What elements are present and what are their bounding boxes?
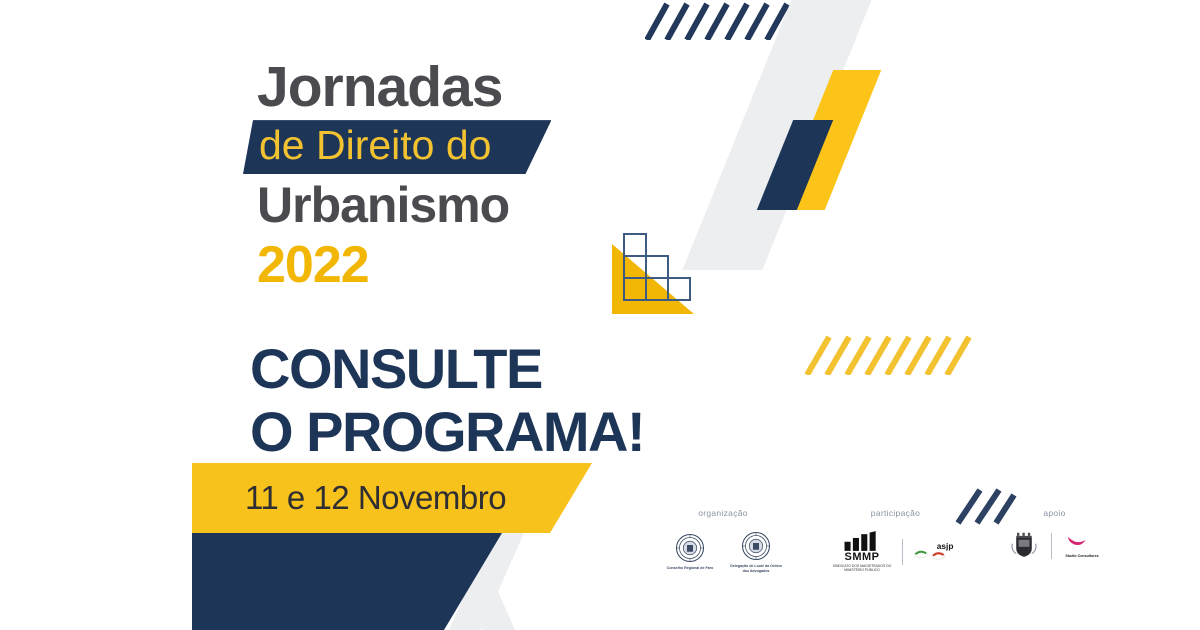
crest-conselho-regional-faro-icon xyxy=(675,533,705,563)
logo-delegacao-loule: Delegação de Loulé da Ordem dos Advogado… xyxy=(728,531,784,574)
yellow-diagonal-hatch-icon xyxy=(805,335,973,375)
date-banner: 11 e 12 Novembro xyxy=(192,463,592,533)
logo-asjp: asjp xyxy=(913,540,959,564)
asjp-logo-icon: asjp xyxy=(914,540,958,564)
svg-text:asjp: asjp xyxy=(937,541,954,551)
location-banner xyxy=(192,533,502,630)
logo-conselho-regional-faro: Conselho Regional de Faro xyxy=(662,533,718,571)
logo-municipality xyxy=(1007,531,1041,561)
sponsor-divider xyxy=(902,539,903,565)
logo-caption: Conselho Regional de Faro xyxy=(667,566,714,571)
cta-line-2: O PROGRAMA! xyxy=(250,400,644,463)
sponsor-heading-organizacao: organização xyxy=(698,508,748,518)
smmp-wordmark: SMMP xyxy=(845,551,880,563)
navy-diagonal-hatch-icon xyxy=(645,2,810,40)
partner-swoosh-logo-icon xyxy=(1065,533,1099,551)
title-line-jornadas: Jornadas xyxy=(257,58,777,116)
logo-caption: Studio Consultores xyxy=(1065,554,1098,559)
title-year: 2022 xyxy=(257,239,777,292)
event-date: 11 e 12 Novembro xyxy=(245,479,506,517)
title-ribbon: de Direito do xyxy=(243,120,551,174)
sponsors-section: organização Conselho Regional de Faro xyxy=(662,508,1102,574)
sponsor-group-participacao: participação SMMP SINDICATO DOS MAGISTRA… xyxy=(832,508,959,573)
sponsor-group-organizacao: organização Conselho Regional de Faro xyxy=(662,508,784,574)
logo-caption: Delegação de Loulé da Ordem dos Advogado… xyxy=(728,564,784,574)
sponsor-heading-participacao: participação xyxy=(871,508,920,518)
title-line-urbanismo: Urbanismo xyxy=(257,180,777,231)
event-title-block: Jornadas de Direito do Urbanismo 2022 xyxy=(257,58,777,292)
title-line-direito: de Direito do xyxy=(259,122,491,168)
call-to-action: CONSULTE O PROGRAMA! xyxy=(250,337,644,464)
yellow-diagonal-bar xyxy=(777,70,882,210)
logo-partner-swoosh: Studio Consultores xyxy=(1062,533,1102,559)
event-location: VILAMOURA xyxy=(61,20,157,36)
sponsor-divider xyxy=(1051,533,1052,559)
municipal-coat-of-arms-icon xyxy=(1010,531,1038,561)
logo-smmp: SMMP SINDICATO DOS MAGISTRADOS DO MINIST… xyxy=(832,531,892,573)
smmp-bars-icon xyxy=(843,531,881,551)
smmp-subtitle: SINDICATO DOS MAGISTRADOS DO MINISTÉRIO … xyxy=(832,564,892,573)
poster-canvas: Jornadas de Direito do Urbanismo 2022 CO… xyxy=(0,0,1200,630)
cta-line-1: CONSULTE xyxy=(250,337,644,400)
sponsor-heading-apoio: apoio xyxy=(1043,508,1065,518)
crest-delegacao-loule-icon xyxy=(741,531,771,561)
sponsor-group-apoio: apoio xyxy=(1007,508,1102,561)
